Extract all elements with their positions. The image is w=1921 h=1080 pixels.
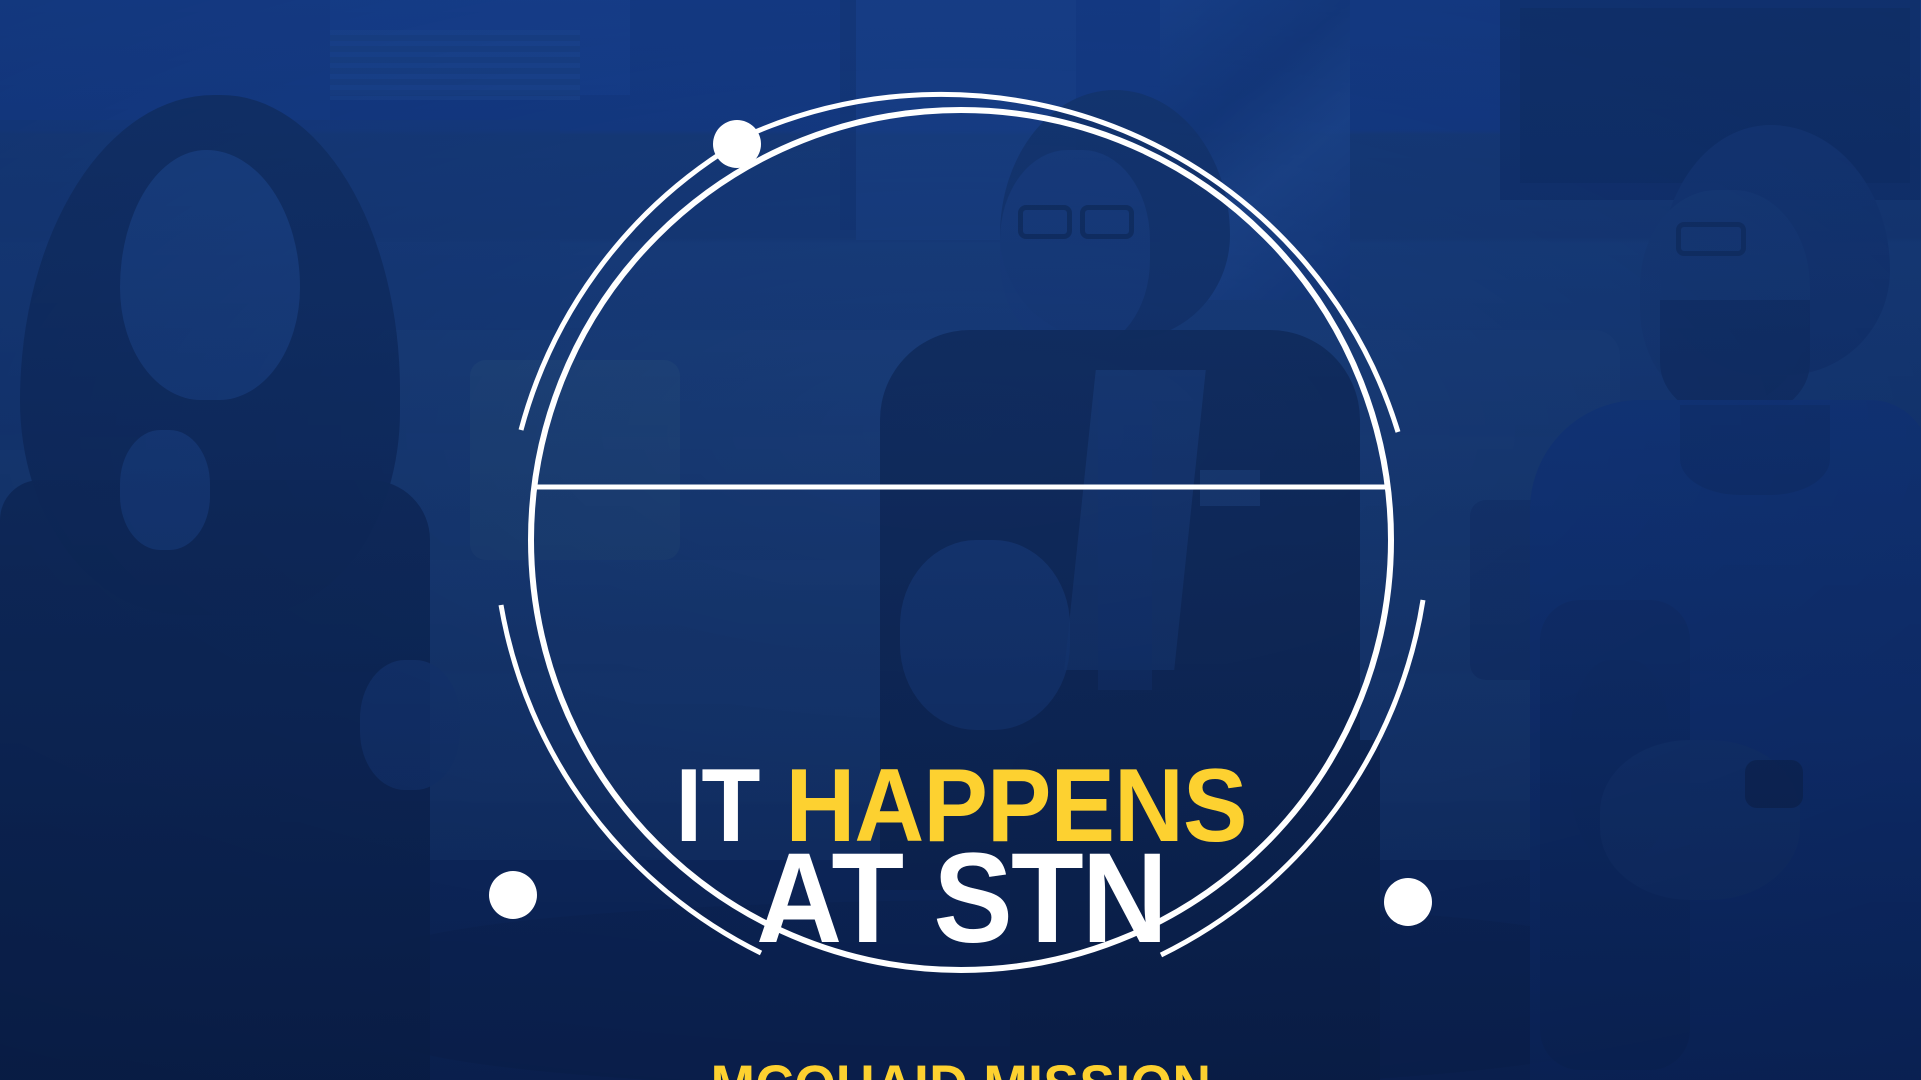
- dot-bottom-left: [489, 871, 537, 919]
- ring-outer-arc-left: [521, 152, 723, 430]
- ring-outer-arc-top: [746, 94, 1398, 432]
- badge-ring: [461, 40, 1461, 1040]
- title-card: IT HAPPENS AT STN MCQUAID MISSION NOVEMB…: [0, 0, 1921, 1080]
- ring-outer-arc-right: [1161, 600, 1423, 955]
- dot-top: [713, 120, 761, 168]
- dot-bottom-right: [1384, 878, 1432, 926]
- ring-inner-circle: [531, 110, 1391, 970]
